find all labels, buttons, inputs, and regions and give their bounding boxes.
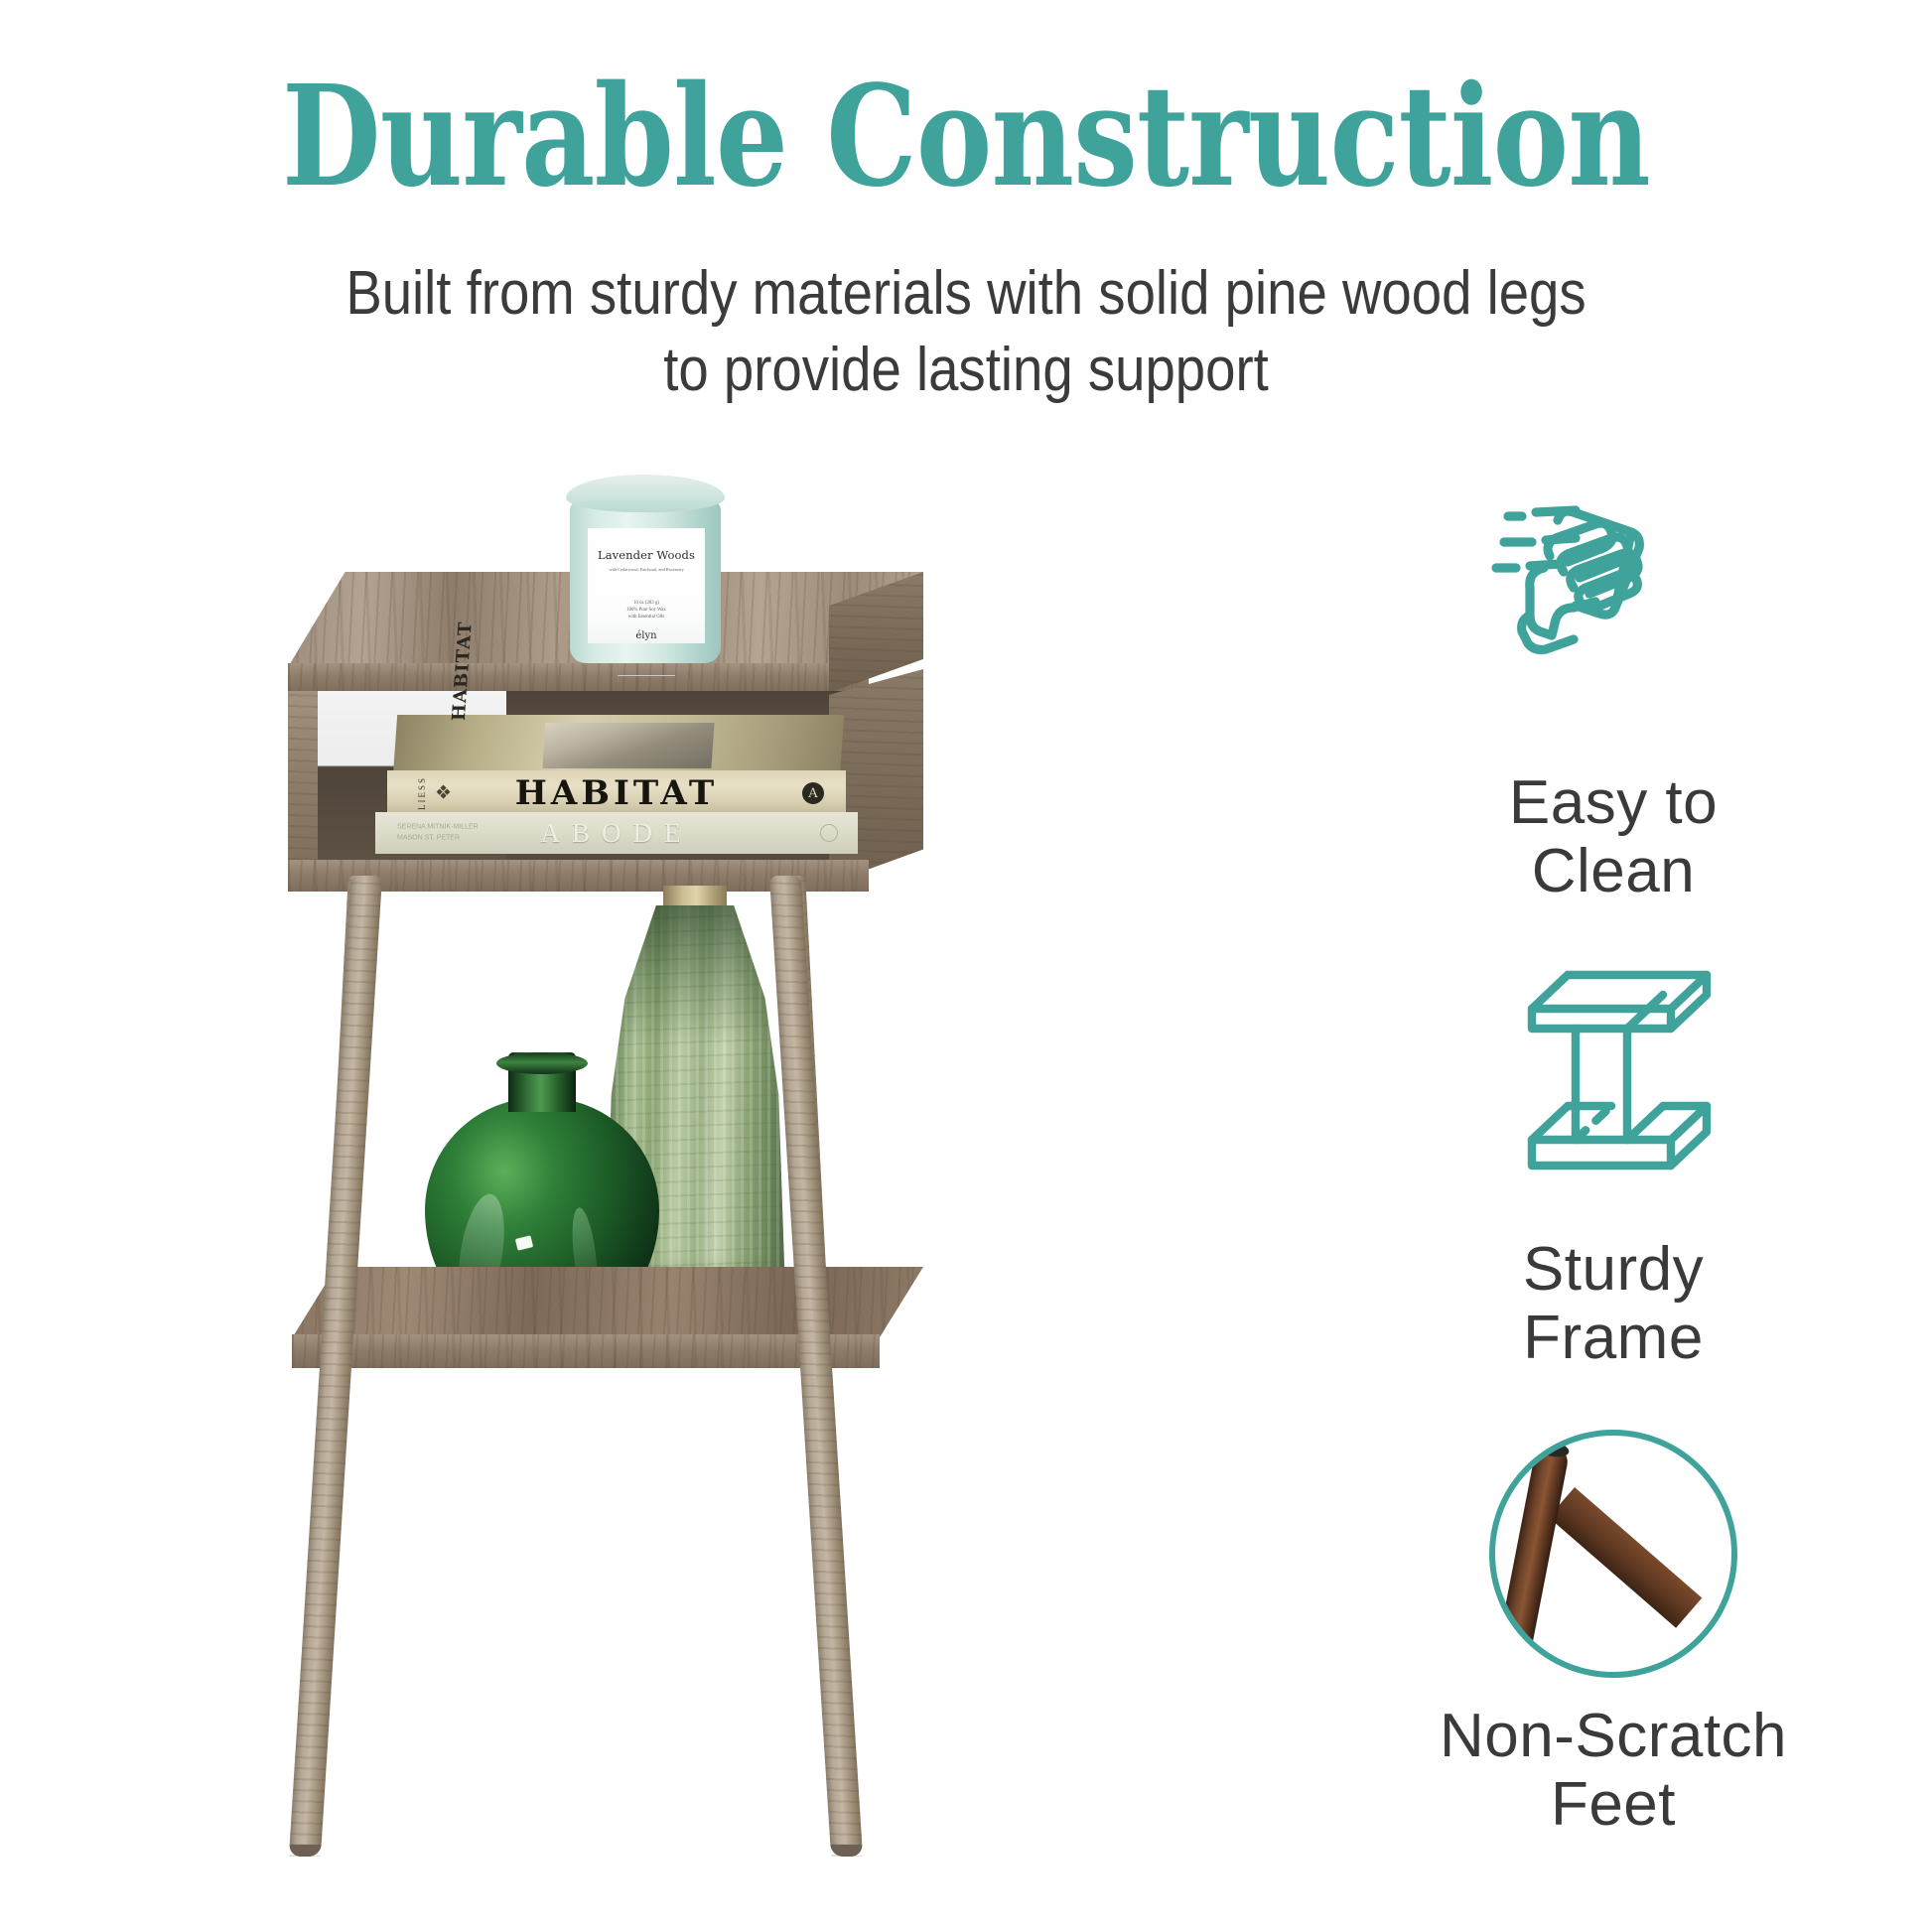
leg-stretcher-detail: [1549, 1487, 1703, 1628]
feature-easy-to-clean: Easy to Clean: [1335, 496, 1891, 906]
book-stack: HABITAT LIESS ❖ HABITAT A SERENA MITNIK-…: [365, 715, 862, 854]
candle-name: Lavender Woods: [598, 548, 695, 562]
candle-label-divider: [618, 675, 675, 676]
book-abode-authors: SERENA MITNIK-MILLER MASON ST. PETER: [397, 823, 479, 844]
product-photo: HABITAT LIESS ❖ HABITAT A SERENA MITNIK-…: [248, 427, 1320, 1857]
i-beam-icon: [1484, 963, 1742, 1211]
cubby-left-post: [288, 691, 318, 882]
book-abode-publisher-logo: [820, 824, 838, 842]
feature-list: Easy to Clean Sturdy Frame Non-Sc: [1335, 496, 1891, 1906]
book-habitat-ornament: ❖: [435, 782, 452, 805]
feature-label-easy-to-clean: Easy to Clean: [1509, 768, 1718, 906]
wipe-cloth-icon: [1484, 496, 1742, 745]
page-title: Durable Construction: [174, 68, 1758, 207]
book-abode-title: ABODE: [541, 818, 693, 849]
book-habitat-title: HABITAT: [515, 773, 718, 813]
book-habitat-author: LIESS: [417, 776, 427, 810]
candle-spec: 10 oz (283 g) 100% Pure Soy Wax with Ess…: [626, 600, 666, 621]
leg-post-detail: [1494, 1443, 1571, 1671]
round-vase-lip: [496, 1052, 588, 1074]
subtitle-line-1: Built from sturdy materials with solid p…: [249, 256, 1682, 333]
book-habitat-spine: LIESS ❖ HABITAT A: [387, 770, 846, 816]
table-leg-foot-icon: [1489, 1430, 1737, 1678]
book-habitat-publisher-logo: A: [802, 782, 824, 804]
book-habitat-cover-photo: [542, 723, 714, 768]
page-subtitle: Built from sturdy materials with solid p…: [152, 256, 1780, 409]
subtitle-line-2: to provide lasting support: [249, 333, 1682, 409]
foot-cap-front-left: [289, 1845, 322, 1857]
feature-label-non-scratch-feet: Non-Scratch Feet: [1440, 1702, 1787, 1840]
candle-label: Lavender Woods with Cedarwood, Patchouli…: [588, 528, 705, 643]
table-top-front-edge: [288, 663, 869, 693]
candle-subtitle: with Cedarwood, Patchouli, and Rosemary: [609, 567, 683, 572]
candle-jar: Lavender Woods with Cedarwood, Patchouli…: [566, 475, 725, 663]
header: Durable Construction Built from sturdy m…: [0, 0, 1932, 397]
foot-cap-front-right: [830, 1845, 863, 1857]
candle-jar-lid: [566, 475, 725, 512]
candle-brand: élyn: [635, 630, 656, 641]
feature-sturdy-frame: Sturdy Frame: [1335, 963, 1891, 1373]
book-abode-spine: SERENA MITNIK-MILLER MASON ST. PETER ABO…: [375, 812, 858, 854]
book-habitat-cover: HABITAT: [393, 715, 844, 776]
lower-shelf-front-edge: [292, 1334, 880, 1368]
feature-non-scratch-feet: Non-Scratch Feet: [1335, 1430, 1891, 1840]
feature-label-sturdy-frame: Sturdy Frame: [1523, 1235, 1704, 1373]
